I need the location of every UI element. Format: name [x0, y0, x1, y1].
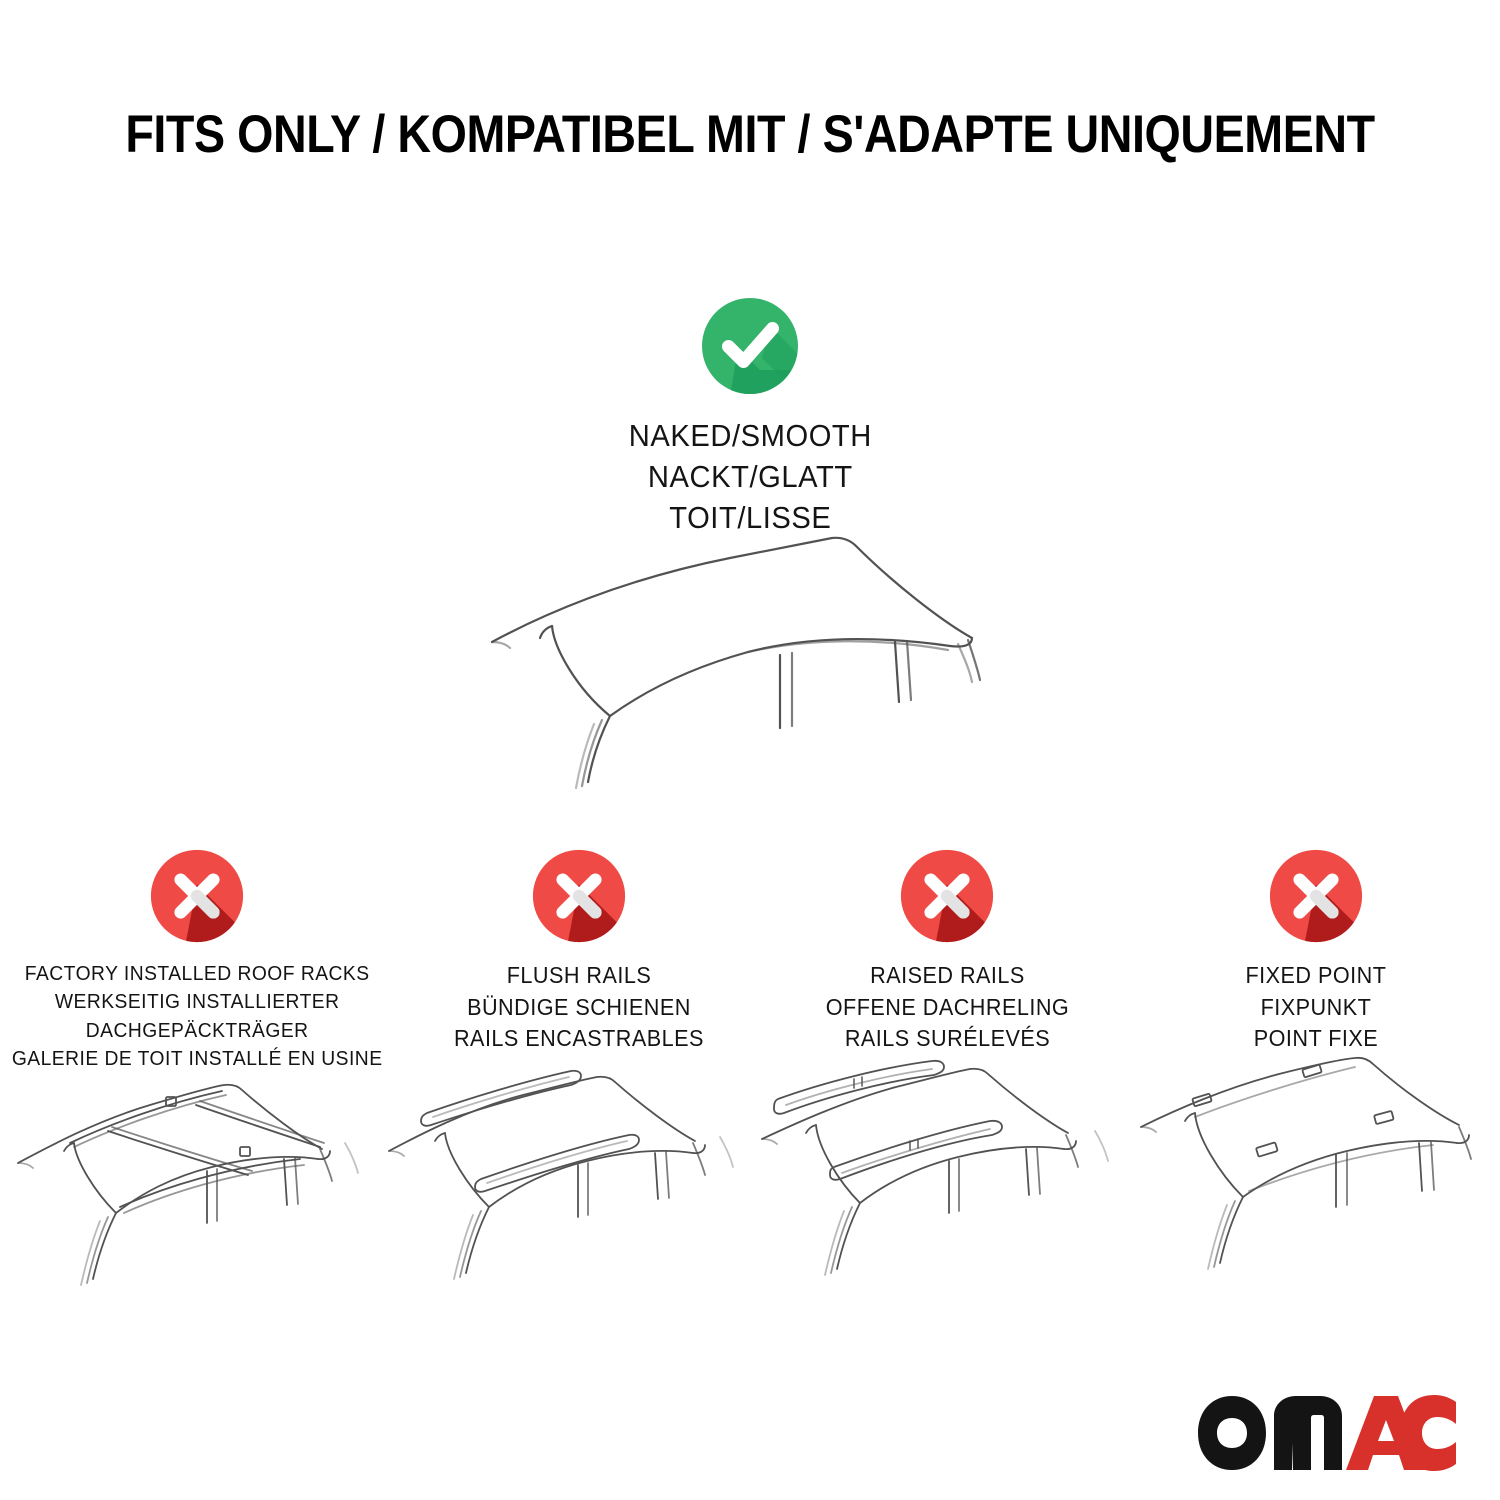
rejected-item-flush-rails: FLUSH RAILS BÜNDIGE SCHIENEN RAILS ENCAS… — [394, 848, 763, 1055]
raised-rails-illustration — [750, 1055, 1125, 1305]
rejected-item-raised-rails: RAISED RAILS OFFENE DACHRELING RAILS SUR… — [763, 848, 1132, 1055]
logo-letter-o — [1198, 1396, 1266, 1470]
rejected-caption-4-line-2: FIXPUNKT — [1245, 992, 1386, 1024]
naked-smooth-roof-illustration — [480, 520, 1040, 810]
rejected-caption-4: FIXED POINT FIXPUNKT POINT FIXE — [1245, 960, 1386, 1055]
rejected-caption-4-line-1: FIXED POINT — [1245, 960, 1386, 992]
approved-caption-line-2: NACKT/GLATT — [628, 457, 871, 498]
flush-rails-illustration — [375, 1055, 750, 1305]
rejected-caption-2-line-2: BÜNDIGE SCHIENEN — [454, 992, 704, 1024]
logo-letter-m — [1274, 1396, 1342, 1470]
rejected-illustrations-row — [0, 1055, 1500, 1305]
rejected-caption-2-line-3: RAILS ENCASTRABLES — [454, 1023, 704, 1055]
rejected-caption-1-line-1: FACTORY INSTALLED ROOF RACKS — [12, 960, 383, 988]
rejected-caption-3: RAISED RAILS OFFENE DACHRELING RAILS SUR… — [825, 960, 1068, 1055]
factory-roof-rack-illustration — [0, 1055, 375, 1305]
rejected-fitment-row: FACTORY INSTALLED ROOF RACKS WERKSEITIG … — [0, 848, 1500, 1073]
rejected-caption-3-line-1: RAISED RAILS — [825, 960, 1068, 992]
rejected-caption-2: FLUSH RAILS BÜNDIGE SCHIENEN RAILS ENCAS… — [454, 960, 704, 1055]
rejected-caption-3-line-2: OFFENE DACHRELING — [825, 992, 1068, 1024]
rejected-caption-4-line-3: POINT FIXE — [1245, 1023, 1386, 1055]
page-title: FITS ONLY / KOMPATIBEL MIT / S'ADAPTE UN… — [90, 104, 1410, 165]
omac-logo — [1196, 1394, 1458, 1472]
cross-circle-icon — [899, 848, 995, 944]
logo-letter-c — [1400, 1395, 1456, 1471]
approved-fitment-block: NAKED/SMOOTH NACKT/GLATT TOIT/LISSE — [0, 296, 1500, 539]
rejected-caption-2-line-1: FLUSH RAILS — [454, 960, 704, 992]
approved-caption-line-1: NAKED/SMOOTH — [628, 416, 871, 457]
rejected-caption-1-line-2: WERKSEITIG INSTALLIERTER — [12, 988, 383, 1016]
cross-circle-icon — [1268, 848, 1364, 944]
rejected-caption-3-line-3: RAILS SURÉLEVÉS — [825, 1023, 1068, 1055]
cross-circle-icon — [531, 848, 627, 944]
rejected-item-factory-roof-racks: FACTORY INSTALLED ROOF RACKS WERKSEITIG … — [0, 848, 394, 1073]
rejected-item-fixed-point: FIXED POINT FIXPUNKT POINT FIXE — [1131, 848, 1500, 1055]
rejected-caption-1-line-3: DACHGEPÄCKTRÄGER — [12, 1017, 383, 1045]
check-circle-icon — [700, 296, 800, 396]
cross-circle-icon — [149, 848, 245, 944]
infographic-page: FITS ONLY / KOMPATIBEL MIT / S'ADAPTE UN… — [0, 0, 1500, 1500]
fixed-point-illustration — [1125, 1055, 1500, 1305]
